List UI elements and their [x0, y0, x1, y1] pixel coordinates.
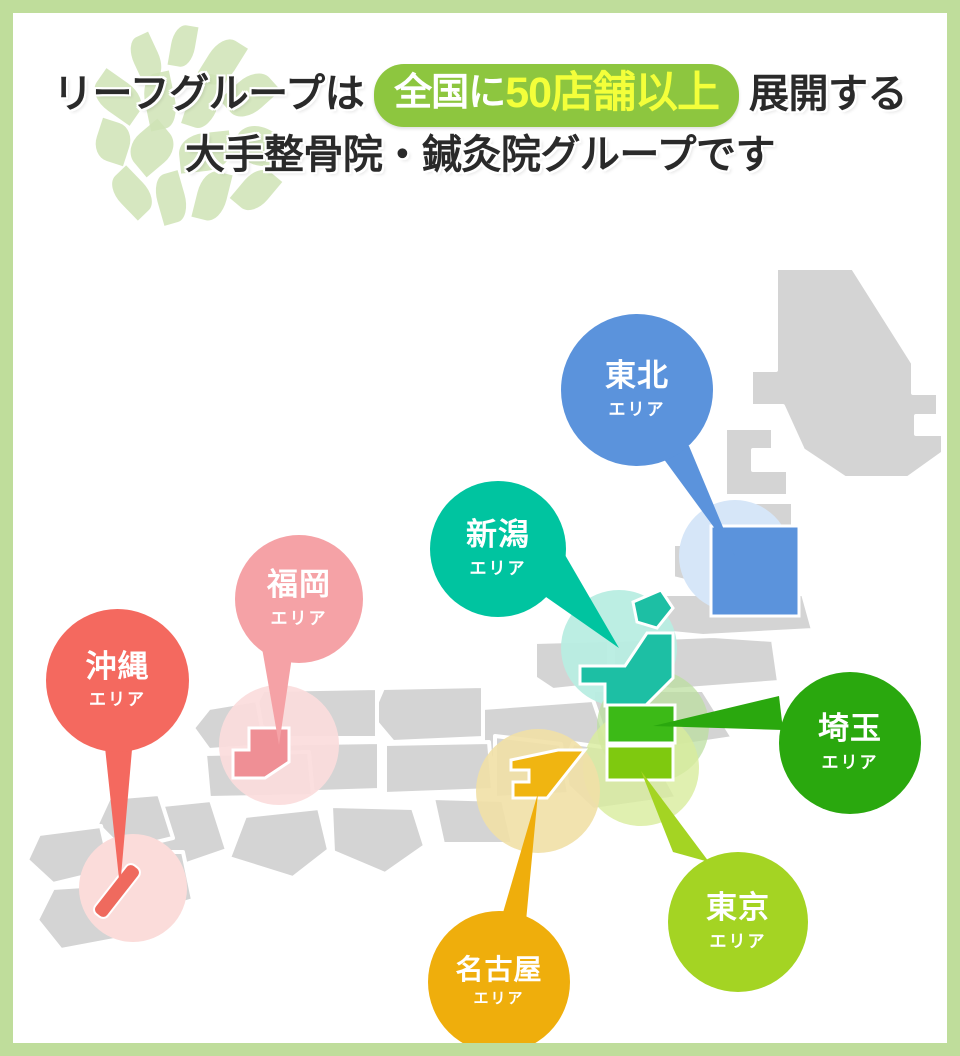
pin-label-niigata: 新潟: [466, 519, 530, 551]
headline-line-2: 大手整骨院・鍼灸院グループです: [13, 126, 947, 184]
pin-label-okinawa: 沖縄: [86, 651, 150, 683]
pin-nagoya[interactable]: 名古屋 エリア: [428, 911, 570, 1043]
region-chugoku-n1: [371, 686, 483, 742]
page-frame: リーフグループは 全国に 50店舗以上 展開する 大手整骨院・鍼灸院グループです: [13, 13, 947, 1043]
pin-sub-tokyo: エリア: [710, 927, 767, 952]
pin-okinawa[interactable]: 沖縄 エリア: [46, 609, 189, 752]
pin-sub-saitama: エリア: [822, 748, 879, 773]
region-shikoku-e: [331, 806, 425, 874]
store-count-badge: 全国に 50店舗以上: [374, 64, 739, 127]
headline: リーフグループは 全国に 50店舗以上 展開する 大手整骨院・鍼灸院グループです: [13, 63, 947, 184]
headline-line-1: リーフグループは 全国に 50店舗以上 展開する: [13, 63, 947, 126]
badge-label-count: 50店舗以上: [505, 67, 719, 121]
pin-label-nagoya: 名古屋: [455, 956, 542, 985]
pin-fukuoka[interactable]: 福岡 エリア: [235, 535, 363, 663]
japan-map: 東北 エリア 新潟 エリア 埼玉 エリア 東京 エリア 名古屋 エリア 福岡 エ…: [13, 238, 947, 1043]
region-tohoku-north: [725, 428, 788, 496]
highlight-tokyo: [607, 746, 673, 780]
pin-sub-fukuoka: エリア: [271, 604, 328, 629]
pin-sub-nagoya: エリア: [473, 987, 524, 1008]
pin-sub-niigata: エリア: [470, 554, 527, 579]
headline-suffix: 展開する: [749, 65, 907, 123]
pin-label-saitama: 埼玉: [818, 713, 882, 745]
pin-label-tohoku: 東北: [605, 360, 669, 392]
headline-prefix: リーフグループは: [53, 65, 364, 123]
halo-okinawa: [79, 834, 187, 942]
pin-label-tokyo: 東京: [706, 892, 770, 924]
badge-label-nationwide: 全国に: [394, 70, 505, 118]
pin-label-fukuoka: 福岡: [267, 569, 331, 601]
pin-tokyo[interactable]: 東京 エリア: [668, 852, 808, 992]
pin-sub-tohoku: エリア: [609, 395, 666, 420]
pin-sub-okinawa: エリア: [89, 685, 146, 710]
pin-niigata[interactable]: 新潟 エリア: [430, 481, 566, 617]
pin-tohoku[interactable]: 東北 エリア: [561, 314, 713, 466]
region-hokkaido: [751, 268, 943, 478]
region-shikoku-w: [229, 808, 329, 878]
pin-saitama[interactable]: 埼玉 エリア: [779, 672, 921, 814]
